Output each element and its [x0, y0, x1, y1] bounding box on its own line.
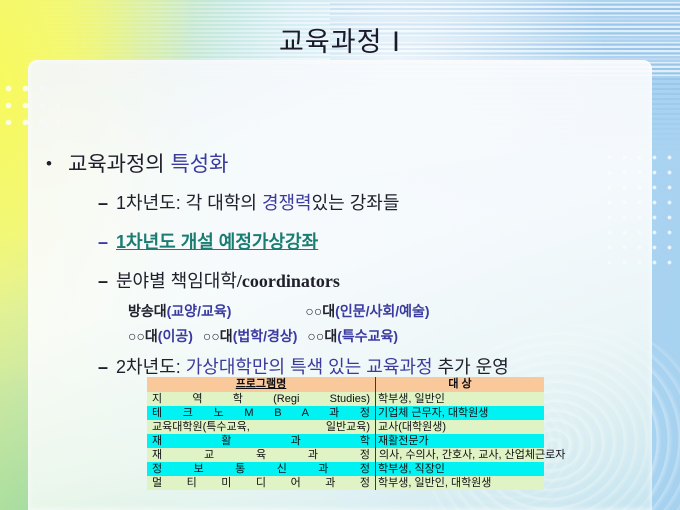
coord-univ-blank-1: ○○대 [305, 303, 335, 319]
table-row: 재 활 과 학 재활전문가 [147, 434, 544, 448]
table-row: 멀 티 미 디 어 과 정 학부생, 일반인, 대학원생 [147, 476, 544, 490]
coord-univ-blank-4: ○○대 [307, 328, 337, 344]
bullet-level2-coordinators: –분야별 책임대학/coordinators [98, 267, 340, 293]
hyperlink-virtual-courses[interactable]: 1차년도 개설 예정가상강좌 [116, 232, 318, 252]
cell-target: 학부생, 일반인, 대학원생 [376, 476, 545, 490]
coordinators-text-a: 분야별 책임대학 [116, 271, 237, 291]
table-header-row: 프로그램명 대 상 [147, 377, 544, 392]
cell-program: 지 역 학 (Regi Studies) [147, 392, 376, 406]
cell-program: 멀 티 미 디 어 과 정 [147, 476, 376, 490]
table-row: 테 크 노 M B A 과 정 기업체 근무자, 대학원생 [147, 406, 544, 420]
year2-highlight: 가상대학만의 특색 있는 교육과정 [186, 357, 433, 377]
coord-field-law: (법학/경상) [233, 328, 298, 344]
coord-univ-broadcast: 방송대 [128, 303, 167, 319]
cell-program: 테 크 노 M B A 과 정 [147, 406, 376, 420]
cell-target: 의사, 수의사, 간호사, 교사, 산업체근로자 [376, 448, 545, 462]
table-row: 재 교 육 과 정 의사, 수의사, 간호사, 교사, 산업체근로자 [147, 448, 544, 462]
header-target: 대 상 [376, 377, 545, 392]
table-row: 교육대학원(특수교육, 일반교육) 교사(대학원생) [147, 420, 544, 434]
year2-text-c: 추가 운영 [433, 357, 509, 377]
dash-marker-icon: – [98, 232, 116, 253]
dash-marker-icon: – [98, 357, 116, 378]
cell-target: 기업체 근무자, 대학원생 [376, 406, 545, 420]
bullet-level2-year2: –2차년도: 가상대학만의 특색 있는 교육과정 추가 운영 [98, 353, 509, 379]
bullet-level2-year1-link[interactable]: –1차년도 개설 예정가상강좌 [98, 228, 318, 254]
bullet-text-highlight: 특성화 [170, 153, 228, 176]
coord-field-special: (특수교육) [337, 328, 398, 344]
program-table-body: 프로그램명 대 상 지 역 학 (Regi Studies) 학부생, 일반인 … [147, 377, 544, 490]
dash-marker-icon: – [98, 271, 116, 292]
dash-marker-icon: – [98, 193, 116, 214]
slide-canvas: 교육과정 I •교육과정의 특성화 –1차년도: 각 대학의 경쟁력있는 강좌들… [0, 0, 680, 510]
cell-program: 정 보 통 신 과 정 [147, 462, 376, 476]
bullet-dot-icon: • [46, 154, 68, 174]
slide-title: 교육과정 I [0, 20, 680, 59]
coord-univ-blank-3: ○○대 [203, 328, 233, 344]
table-row: 지 역 학 (Regi Studies) 학부생, 일반인 [147, 392, 544, 406]
coord-field-liberal: (교양/교육) [167, 303, 232, 319]
cell-target: 학부생, 일반인 [376, 392, 545, 406]
year2-text-a: 2차년도: [116, 357, 186, 377]
cell-program: 재 활 과 학 [147, 434, 376, 448]
program-table: 프로그램명 대 상 지 역 학 (Regi Studies) 학부생, 일반인 … [147, 377, 544, 490]
cell-target: 학부생, 직장인 [376, 462, 545, 476]
coordinator-row-2: ○○대(이공)○○대(법학/경상)○○대(특수교육) [128, 326, 398, 346]
year1-text-c: 있는 강좌들 [312, 193, 400, 213]
bullet-level2-year1-courses: –1차년도: 각 대학의 경쟁력있는 강좌들 [98, 189, 399, 215]
header-program-name: 프로그램명 [147, 377, 376, 392]
cell-target: 교사(대학원생) [376, 420, 545, 434]
table-row: 정 보 통 신 과 정 학부생, 직장인 [147, 462, 544, 476]
cell-target: 재활전문가 [376, 434, 545, 448]
bullet-text-a: 교육과정의 [68, 153, 170, 176]
cell-program: 교육대학원(특수교육, 일반교육) [147, 420, 376, 434]
coordinator-row-1: 방송대(교양/교육)○○대(인문/사회/예술) [128, 301, 430, 321]
coordinators-text-b: /coordinators [237, 271, 340, 291]
coord-univ-blank-2: ○○대 [128, 328, 158, 344]
bullet-level1-characterization: •교육과정의 특성화 [46, 148, 228, 178]
coord-field-humanities: (인문/사회/예술) [335, 303, 429, 319]
year1-text-a: 1차년도: 각 대학의 [116, 193, 262, 213]
year1-highlight: 경쟁력 [262, 193, 312, 213]
cell-program: 재 교 육 과 정 [147, 448, 376, 462]
coord-field-science: (이공) [158, 328, 193, 344]
